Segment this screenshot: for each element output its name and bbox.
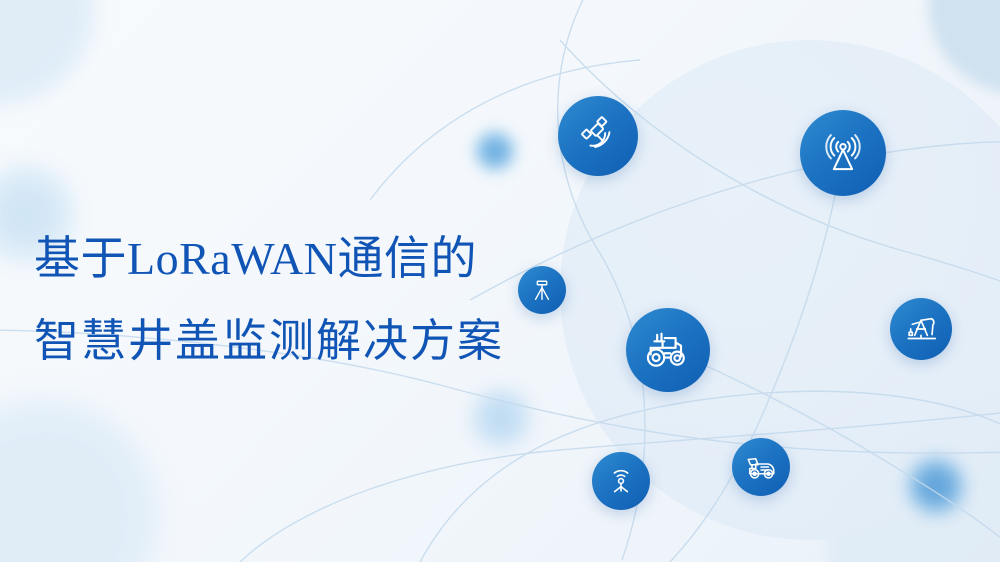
decor-blob-top-right <box>928 0 1000 94</box>
antenna-icon-node[interactable] <box>800 110 886 196</box>
decor-blob-top-left <box>0 0 94 104</box>
title-slide: 基于LoRaWAN通信的 智慧井盖监测解决方案 <box>0 0 1000 562</box>
tractor-icon <box>642 324 694 376</box>
decor-blob-bottom-right <box>828 396 1000 562</box>
decor-dot-upper-center <box>472 128 518 174</box>
harvester-icon-node[interactable] <box>732 438 790 496</box>
decor-blob-bottom-left <box>0 400 158 562</box>
satellite-icon <box>575 113 621 159</box>
beacon-icon <box>604 464 638 498</box>
title-block: 基于LoRaWAN通信的 智慧井盖监测解决方案 <box>34 228 504 372</box>
tractor-icon-node[interactable] <box>626 308 710 392</box>
harvester-icon <box>743 449 779 485</box>
oil-pump-icon <box>902 310 940 348</box>
beacon-icon-node[interactable] <box>592 452 650 510</box>
satellite-icon-node[interactable] <box>558 96 638 176</box>
tripod-icon <box>528 276 556 304</box>
decor-dot-lower-center <box>468 385 534 451</box>
decor-dot-bottom-right <box>905 455 967 517</box>
title-line-primary: 基于LoRaWAN通信的 <box>34 228 504 290</box>
title-line-secondary: 智慧井盖监测解决方案 <box>34 310 504 372</box>
tripod-icon-node[interactable] <box>518 266 566 314</box>
antenna-icon <box>818 128 868 178</box>
oil-pump-icon-node[interactable] <box>890 298 952 360</box>
